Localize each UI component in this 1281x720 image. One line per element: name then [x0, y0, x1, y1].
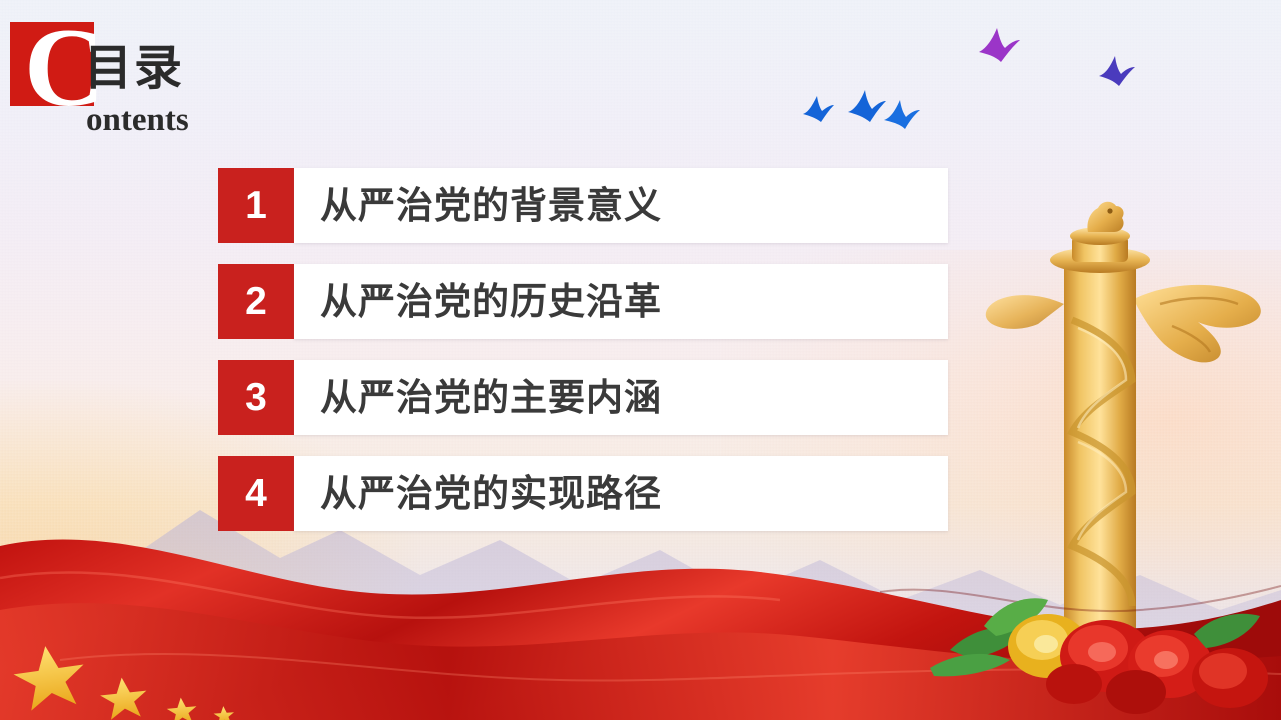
- toc-label-container-4: 从严治党的实现路径: [294, 456, 948, 531]
- bird-icon-blue-right: [882, 96, 922, 136]
- toc-label-4: 从严治党的实现路径: [320, 475, 662, 512]
- toc-item-1[interactable]: 1 从严治党的背景意义: [218, 168, 948, 243]
- toc-label-2: 从严治党的历史沿革: [320, 283, 662, 320]
- slide-canvas: C 目录 ontents 1 从严治党的背景意义 2 从严治党的历史沿革 3 从…: [0, 0, 1281, 720]
- five-pointed-stars: [0, 580, 300, 720]
- bird-icon-indigo: [1096, 52, 1138, 94]
- toc-number-3: 3: [218, 360, 294, 435]
- toc-label-1: 从严治党的背景意义: [320, 187, 662, 224]
- bird-icon-purple: [975, 22, 1023, 70]
- peony-flowers: [930, 560, 1280, 720]
- toc-item-2[interactable]: 2 从严治党的历史沿革: [218, 264, 948, 339]
- toc-item-4[interactable]: 4 从严治党的实现路径: [218, 456, 948, 531]
- logo-chinese-title: 目录: [84, 44, 184, 92]
- table-of-contents: 1 从严治党的背景意义 2 从严治党的历史沿革 3 从严治党的主要内涵 4 从严…: [218, 168, 948, 552]
- toc-number-1: 1: [218, 168, 294, 243]
- toc-item-3[interactable]: 3 从严治党的主要内涵: [218, 360, 948, 435]
- toc-label-container-3: 从严治党的主要内涵: [294, 360, 948, 435]
- contents-logo: C 目录 ontents: [10, 22, 260, 132]
- toc-label-3: 从严治党的主要内涵: [320, 379, 662, 416]
- toc-label-container-2: 从严治党的历史沿革: [294, 264, 948, 339]
- logo-english-title: ontents: [86, 104, 189, 137]
- bird-icon-blue-small: [800, 92, 838, 130]
- toc-number-4: 4: [218, 456, 294, 531]
- toc-number-2: 2: [218, 264, 294, 339]
- toc-label-container-1: 从严治党的背景意义: [294, 168, 948, 243]
